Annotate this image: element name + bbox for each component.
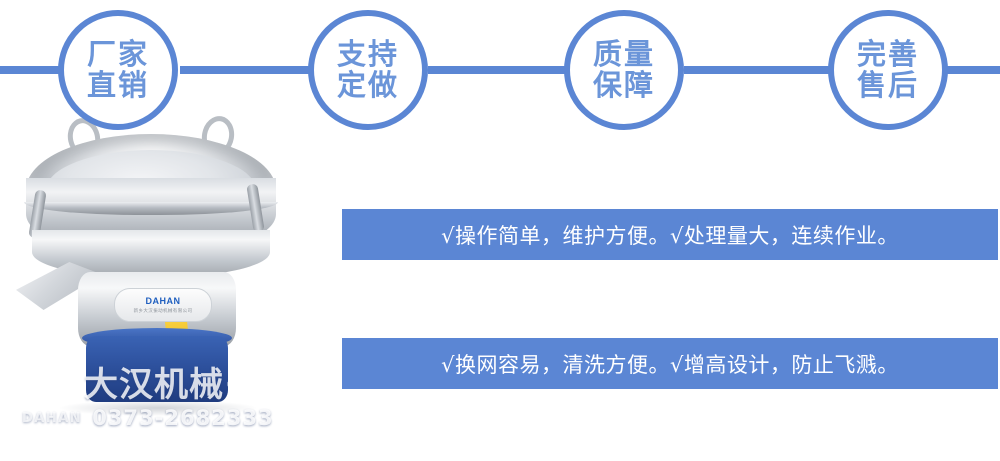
connector-line-0	[0, 66, 66, 74]
badge-custom-made-line2: 定做	[337, 70, 399, 101]
badge-after-sales[interactable]: 完善 售后	[828, 10, 948, 130]
connector-line-4	[944, 66, 1000, 74]
feature-banner-1-text: √操作简单，维护方便。√处理量大，连续作业。	[441, 220, 899, 250]
badge-factory-direct-line1: 厂家	[87, 39, 149, 70]
badge-quality-assurance-line1: 质量	[593, 39, 655, 70]
feature-banner-1: √操作简单，维护方便。√处理量大，连续作业。	[342, 209, 998, 260]
promo-banner-page: 厂家 直销 支持 定做 质量 保障 完善 售后 DAHAN 新乡大	[0, 0, 1000, 461]
motor-nameplate-brand: DAHAN	[146, 297, 181, 306]
badge-factory-direct[interactable]: 厂家 直销	[58, 10, 178, 130]
motor-nameplate: DAHAN 新乡大汉振动机械有限公司	[114, 288, 212, 322]
badge-custom-made-line1: 支持	[337, 39, 399, 70]
feature-badge-strip: 厂家 直销 支持 定做 质量 保障 完善 售后	[0, 0, 1000, 140]
product-photo-vibrating-sieve: DAHAN 新乡大汉振动机械有限公司	[16, 112, 296, 442]
feature-banner-2-text: √换网容易，清洗方便。√增高设计，防止飞溅。	[441, 349, 899, 379]
badge-quality-assurance-line2: 保障	[593, 70, 655, 101]
connector-line-2	[428, 66, 568, 74]
badge-custom-made[interactable]: 支持 定做	[308, 10, 428, 130]
product-shadow	[60, 400, 256, 416]
badge-after-sales-line2: 售后	[857, 70, 919, 101]
badge-after-sales-line1: 完善	[857, 39, 919, 70]
badge-quality-assurance[interactable]: 质量 保障	[564, 10, 684, 130]
connector-line-3	[684, 66, 832, 74]
connector-line-1	[180, 66, 312, 74]
feature-banner-2: √换网容易，清洗方便。√增高设计，防止飞溅。	[342, 338, 998, 389]
blue-base-body	[86, 336, 228, 402]
badge-factory-direct-line2: 直销	[87, 70, 149, 101]
motor-nameplate-subtitle: 新乡大汉振动机械有限公司	[134, 308, 193, 314]
